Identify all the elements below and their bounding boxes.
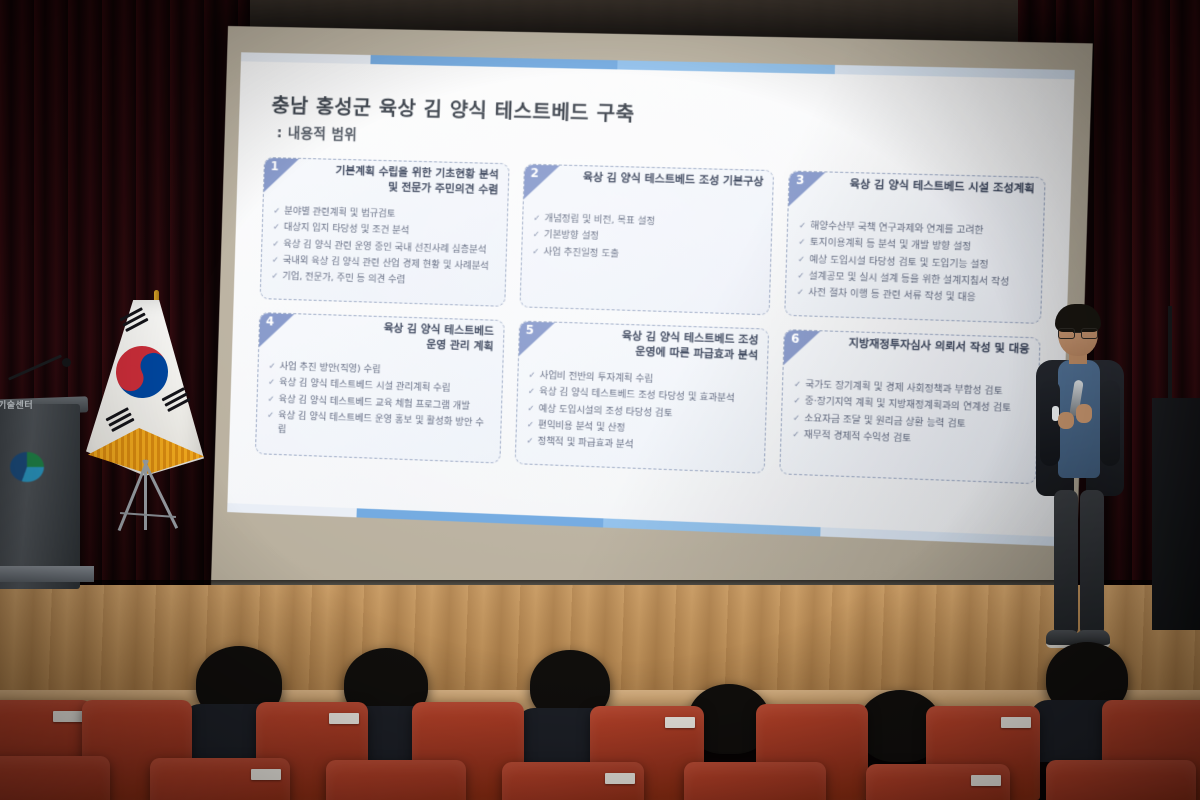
auditorium-seat xyxy=(1046,760,1196,800)
card-bullet-list: ✓사업비 전반의 투자계획 수립✓육상 김 양식 테스트베드 조성 타당성 및 … xyxy=(515,363,767,469)
card-number: 5 xyxy=(525,323,534,337)
check-icon: ✓ xyxy=(273,221,280,235)
check-icon: ✓ xyxy=(793,411,801,425)
check-icon: ✓ xyxy=(794,378,802,392)
auditorium-seat xyxy=(0,756,110,800)
presenter xyxy=(1022,308,1142,668)
check-icon: ✓ xyxy=(799,219,807,233)
check-icon: ✓ xyxy=(527,401,535,415)
check-icon: ✓ xyxy=(532,228,540,242)
seat-number-plate xyxy=(251,769,281,780)
card-number: 2 xyxy=(530,166,539,180)
check-icon: ✓ xyxy=(527,418,535,432)
presenter-arm-left xyxy=(1040,380,1060,466)
slide-card-5: 5육상 김 양식 테스트베드 조성운영에 따른 파급효과 분석✓사업비 전반의 … xyxy=(514,320,769,473)
card-bullet-list: ✓개념정립 및 비전, 목표 설정✓기본방향 설정✓사업 추진일정 도출 xyxy=(521,206,772,277)
card-bullet-list: ✓해양수산부 국책 연구과제와 연계를 고려한✓토지이용계획 등 분석 및 개발… xyxy=(786,213,1044,319)
slide-card-2: 2육상 김 양식 테스트베드 조성 기본구상✓개념정립 및 비전, 목표 설정✓… xyxy=(519,164,774,316)
presenter-hand-right xyxy=(1076,404,1092,423)
loudspeaker-cabinet xyxy=(1152,398,1200,630)
podium-microphone-head xyxy=(62,358,71,367)
check-icon: ✓ xyxy=(793,394,801,408)
slide-card-3: 3육상 김 양식 테스트베드 시설 조성계획✓해양수산부 국책 연구과제와 연계… xyxy=(785,170,1046,323)
card-bullet-list: ✓국가도 장기계획 및 경제 사회정책과 부합성 검토✓중·장기지역 계획 및 … xyxy=(781,372,1038,463)
slide-subtitle: : 내용적 범위 xyxy=(276,121,357,143)
slide-title: 충남 홍성군 육상 김 양식 테스트베드 구축 xyxy=(271,89,635,127)
speaker-stand-pole xyxy=(1168,306,1172,402)
seat-number-plate xyxy=(605,773,635,784)
check-icon: ✓ xyxy=(528,368,536,382)
card-heading: 육상 김 양식 테스트베드 조성운영에 따른 파급효과 분석 xyxy=(518,322,768,372)
auditorium-photo: 충남 홍성군 육상 김 양식 테스트베드 구축 : 내용적 범위 1기본계획 수… xyxy=(0,0,1200,800)
auditorium-seat xyxy=(150,758,290,800)
card-number: 4 xyxy=(266,314,274,328)
check-icon: ✓ xyxy=(268,376,275,390)
seat-number-plate xyxy=(329,713,359,724)
slide-card-1: 1기본계획 수립을 위한 기초현황 분석및 전문가 주민의견 수렴✓분야별 관련… xyxy=(260,157,510,307)
card-heading: 육상 김 양식 테스트베드운영 관리 계획 xyxy=(259,313,503,362)
card-number: 1 xyxy=(270,159,278,173)
seat-number-plate xyxy=(665,717,695,728)
slide-card-6: 6지방재정투자심사 의뢰서 작성 및 대응✓국가도 장기계획 및 경제 사회정책… xyxy=(780,329,1041,484)
flag-tripod-stand xyxy=(90,460,200,538)
auditorium-seat xyxy=(502,762,644,800)
seat-number-plate xyxy=(971,775,1001,786)
check-icon: ✓ xyxy=(272,237,279,251)
check-icon: ✓ xyxy=(798,252,806,266)
card-bullet-text: 육상 김 양식 테스트베드 운영 홍보 및 활성화 방안 수립 xyxy=(278,409,493,445)
auditorium-seat xyxy=(866,764,1010,800)
auditorium-seat xyxy=(684,762,826,800)
check-icon: ✓ xyxy=(273,204,280,218)
slide-card-grid: 1기본계획 수립을 위한 기초현황 분석및 전문가 주민의견 수렴✓분야별 관련… xyxy=(255,157,1046,484)
auditorium-seat xyxy=(326,760,466,800)
eyeglasses-icon xyxy=(1058,328,1098,337)
card-number: 3 xyxy=(796,173,805,188)
podium-venue-label: 기술센터 xyxy=(0,400,68,413)
card-heading: 육상 김 양식 테스트베드 시설 조성계획 xyxy=(789,172,1045,221)
check-icon: ✓ xyxy=(797,286,805,300)
korean-flag-taegukgi xyxy=(72,300,217,530)
check-icon: ✓ xyxy=(272,253,279,267)
check-icon: ✓ xyxy=(797,269,805,283)
seat-number-plate xyxy=(1001,717,1031,728)
presentation-slide: 충남 홍성군 육상 김 양식 테스트베드 구축 : 내용적 범위 1기본계획 수… xyxy=(227,52,1075,546)
card-bullet-text: 사업 추진일정 도출 xyxy=(543,245,762,265)
podium xyxy=(0,404,80,589)
presenter-legs xyxy=(1052,490,1108,640)
presenter-arm-right xyxy=(1100,380,1120,466)
card-bullet-item: ✓육상 김 양식 테스트베드 운영 홍보 및 활성화 방안 수립 xyxy=(266,408,492,444)
check-icon: ✓ xyxy=(528,385,536,399)
check-icon: ✓ xyxy=(271,270,278,284)
check-icon: ✓ xyxy=(533,212,541,226)
check-icon: ✓ xyxy=(526,434,534,448)
check-icon: ✓ xyxy=(798,236,806,250)
slide-card-4: 4육상 김 양식 테스트베드운영 관리 계획✓사업 추진 방안(직영) 수립✓육… xyxy=(255,312,505,464)
card-heading: 육상 김 양식 테스트베드 조성 기본구상 xyxy=(523,165,773,213)
check-icon: ✓ xyxy=(266,408,274,436)
podium-emblem-icon xyxy=(10,452,44,482)
card-heading: 지방재정투자심사 의뢰서 작성 및 대응 xyxy=(784,330,1040,381)
check-icon: ✓ xyxy=(792,428,800,442)
check-icon: ✓ xyxy=(267,392,274,406)
check-icon: ✓ xyxy=(268,359,275,373)
seat-number-plate xyxy=(53,711,83,722)
card-heading: 기본계획 수립을 위한 기초현황 분석및 전문가 주민의견 수렴 xyxy=(264,158,509,206)
card-number: 6 xyxy=(791,331,800,346)
card-bullet-list: ✓분야별 관련계획 및 법규검토✓대상지 입지 타당성 및 조건 분석✓육상 김… xyxy=(261,199,507,302)
projection-screen: 충남 홍성군 육상 김 양식 테스트베드 구축 : 내용적 범위 1기본계획 수… xyxy=(211,26,1093,630)
presenter-hand-left xyxy=(1058,412,1074,429)
card-bullet-list: ✓사업 추진 방안(직영) 수립✓육상 김 양식 테스트베드 시설 관리계획 수… xyxy=(256,354,502,456)
check-icon: ✓ xyxy=(532,245,540,259)
podium-base xyxy=(0,566,94,582)
